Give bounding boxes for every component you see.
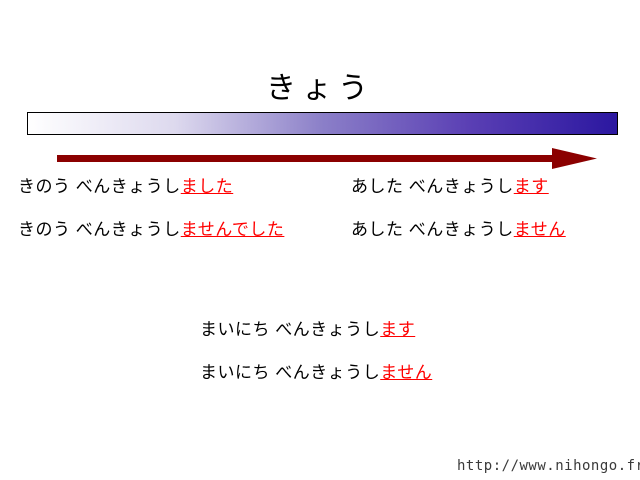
sentence-ending-highlight: ません: [380, 363, 432, 382]
sentence-stem: きのう べんきょうし: [18, 177, 181, 196]
sentence-ending-highlight: ました: [181, 177, 234, 196]
time-gradient-bar: [27, 112, 618, 135]
sentence-past-affirmative: きのう べんきょうしました: [18, 176, 233, 198]
sentence-future-negative: あした べんきょうしません: [351, 219, 566, 241]
sentence-past-negative: きのう べんきょうしませんでした: [18, 219, 284, 241]
sentence-stem: あした べんきょうし: [351, 220, 514, 239]
sentence-habitual-negative: まいにち べんきょうしません: [200, 362, 432, 384]
sentence-stem: きのう べんきょうし: [18, 220, 181, 239]
footer-url[interactable]: http://www.nihongo.fr/: [457, 457, 640, 475]
sentence-stem: あした べんきょうし: [351, 177, 514, 196]
sentence-ending-highlight: ます: [514, 177, 549, 196]
slide-canvas: きょう きのう べんきょうしました あした べんきょうします: [0, 0, 640, 480]
sentence-ending-highlight: ませんでした: [181, 220, 285, 239]
sentence-stem: まいにち べんきょうし: [200, 320, 380, 339]
time-direction-arrow: [57, 144, 597, 172]
sentence-ending-highlight: ます: [380, 320, 415, 339]
sentence-habitual-affirmative: まいにち べんきょうします: [200, 319, 415, 341]
page-title: きょう: [0, 72, 640, 106]
sentence-stem: まいにち べんきょうし: [200, 363, 380, 382]
sentence-future-affirmative: あした べんきょうします: [351, 176, 549, 198]
sentence-ending-highlight: ません: [514, 220, 566, 239]
arrow-icon: [57, 144, 597, 172]
gradient-bar-graphic: [28, 113, 617, 134]
